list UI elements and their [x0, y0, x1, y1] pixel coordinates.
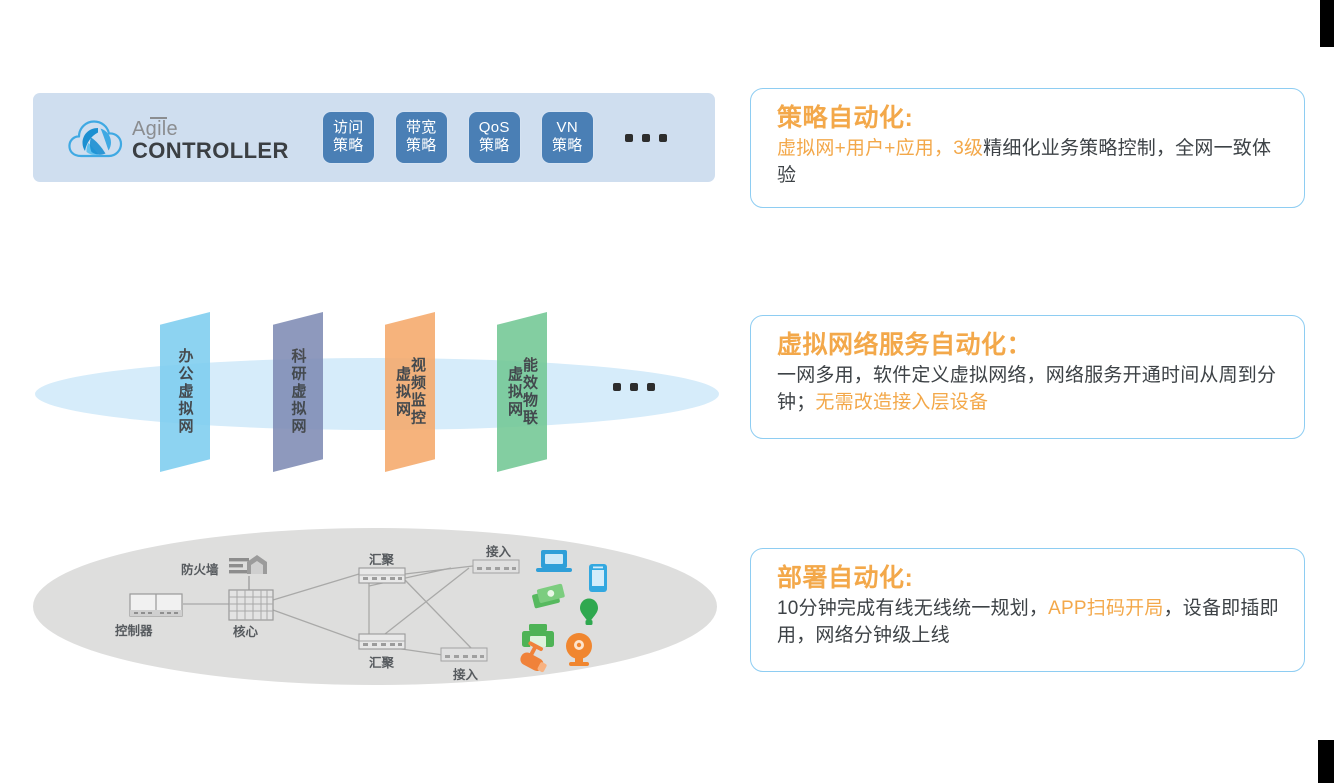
vn-overflow-ellipsis[interactable] — [613, 383, 655, 391]
chip-line-1: 带宽 — [406, 120, 437, 137]
chip-vn-policy[interactable]: VN 策略 — [541, 111, 594, 164]
agile-controller-wordmark: Agile CONTROLLER — [132, 114, 289, 162]
panel-title: 策略自动化: — [777, 103, 1282, 133]
label-firewall: 防火墙 — [181, 559, 219, 578]
corner-mark-top-right — [1320, 0, 1334, 47]
slab-label-column-a: 科研虚拟网 — [291, 348, 306, 436]
brand-agile-text: Agile — [132, 118, 178, 140]
dot — [613, 383, 621, 391]
label-aggregation-top: 汇聚 — [369, 549, 394, 568]
slab-office-vn[interactable]: 办公虚拟网 — [160, 312, 210, 472]
slab-caption: 办公虚拟网 — [160, 312, 210, 472]
label-aggregation-bottom: 汇聚 — [369, 652, 394, 671]
chip-line-1: 访问 — [333, 120, 364, 137]
dot — [630, 383, 638, 391]
brand-agile: Agile — [132, 116, 178, 139]
laptop-icon — [536, 550, 572, 572]
printer-icon — [522, 624, 554, 647]
slab-label-column-a: 能效物联 — [522, 357, 537, 427]
aggregation-switch-bottom-icon — [359, 634, 405, 649]
chip-line-2: 策略 — [406, 138, 437, 155]
core-switch-icon — [229, 590, 273, 620]
slab-caption: 科研虚拟网 — [273, 312, 323, 472]
access-switch-top-icon — [473, 560, 519, 573]
chip-line-1: QoS — [479, 120, 510, 137]
virtual-network-diagram: 办公虚拟网 科研虚拟网 视频监控 虚拟网 能效物联 虚拟网 — [33, 300, 723, 490]
chip-line-2: 策略 — [333, 138, 364, 155]
slide-canvas: Agile CONTROLLER 访问 策略 带宽 策略 QoS 策略 VN 策… — [0, 0, 1334, 783]
dot — [659, 134, 667, 142]
chip-qos-policy[interactable]: QoS 策略 — [468, 111, 521, 164]
chip-line-2: 策略 — [552, 138, 583, 155]
slab-research-vn[interactable]: 科研虚拟网 — [273, 312, 323, 472]
slab-energy-iot-vn[interactable]: 能效物联 虚拟网 — [497, 312, 547, 472]
slab-label-column-a: 视频监控 — [410, 357, 425, 427]
sensor-icon — [580, 599, 598, 626]
label-access-bottom: 接入 — [453, 664, 478, 683]
policy-chip-group: 访问 策略 带宽 策略 QoS 策略 VN 策略 — [322, 111, 667, 164]
label-core-switch: 核心 — [233, 621, 258, 640]
label-controller: 控制器 — [115, 620, 153, 639]
dot — [625, 134, 633, 142]
panel-body-highlight: 无需改造接入层设备 — [815, 392, 988, 413]
slab-label-column-a: 办公虚拟网 — [178, 348, 193, 436]
dot — [642, 134, 650, 142]
firewall-device-icon — [229, 555, 267, 590]
aggregation-switch-top-icon — [359, 568, 405, 583]
macron-accent — [150, 117, 167, 119]
corner-mark-bottom-right — [1318, 740, 1334, 783]
panel-deployment-automation: 部署自动化: 10分钟完成有线无线统一规划，APP扫码开局，设备即插即用，网络分… — [750, 548, 1305, 672]
panel-body: 一网多用，软件定义虚拟网络，网络服务开通时间从周到分钟；无需改造接入层设备 — [777, 363, 1282, 417]
panel-title: 部署自动化: — [777, 563, 1282, 593]
access-switch-bottom-icon — [441, 648, 487, 661]
agile-controller-logo: Agile CONTROLLER — [67, 114, 289, 162]
slab-label-column-b: 虚拟网 — [507, 366, 522, 419]
panel-policy-automation: 策略自动化: 虚拟网+用户+应用，3级精细化业务策略控制，全网一致体验 — [750, 88, 1305, 208]
topology-links — [183, 566, 473, 655]
panel-body-plain: 10分钟完成有线无线统一规划， — [777, 598, 1048, 619]
slab-video-surveillance-vn[interactable]: 视频监控 虚拟网 — [385, 312, 435, 472]
panel-body: 虚拟网+用户+应用，3级精细化业务策略控制，全网一致体验 — [777, 136, 1282, 190]
chip-bandwidth-policy[interactable]: 带宽 策略 — [395, 111, 448, 164]
panel-title: 虚拟网络服务自动化： — [777, 330, 1282, 360]
slab-label-column-b: 虚拟网 — [395, 366, 410, 419]
chip-access-policy[interactable]: 访问 策略 — [322, 111, 375, 164]
panel-body-highlight: 虚拟网+用户+应用，3级 — [777, 138, 983, 159]
panel-virtual-network-service-automation: 虚拟网络服务自动化： 一网多用，软件定义虚拟网络，网络服务开通时间从周到分钟；无… — [750, 315, 1305, 439]
dot — [647, 383, 655, 391]
policy-overflow-ellipsis[interactable] — [625, 134, 667, 142]
slab-caption: 能效物联 虚拟网 — [497, 312, 547, 472]
panel-body-highlight: APP扫码开局 — [1048, 598, 1163, 619]
chip-line-1: VN — [557, 120, 578, 137]
brand-controller: CONTROLLER — [132, 140, 289, 162]
controller-device-icon — [130, 594, 182, 616]
chip-line-2: 策略 — [479, 138, 510, 155]
cloud-swirl-icon — [67, 115, 123, 161]
network-topology-diagram: 控制器 防火墙 核心 汇聚 汇聚 接入 接入 — [33, 528, 723, 688]
dome-camera-icon — [566, 633, 592, 666]
label-access-top: 接入 — [486, 541, 511, 560]
banknotes-icon — [531, 583, 566, 608]
slab-caption: 视频监控 虚拟网 — [385, 312, 435, 472]
network-fabric-band — [35, 358, 719, 430]
panel-body: 10分钟完成有线无线统一规划，APP扫码开局，设备即插即用，网络分钟级上线 — [777, 596, 1282, 650]
agile-controller-bar: Agile CONTROLLER 访问 策略 带宽 策略 QoS 策略 VN 策… — [33, 93, 715, 182]
tablet-icon — [589, 564, 607, 592]
